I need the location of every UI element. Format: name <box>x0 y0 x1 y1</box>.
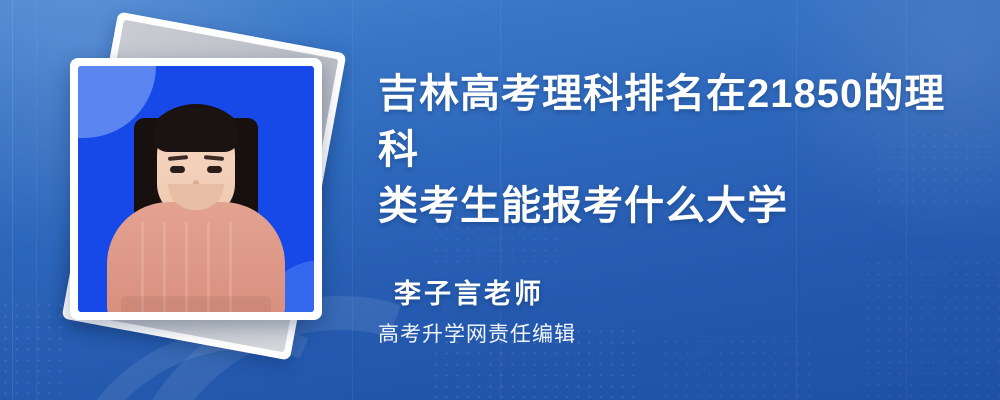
text-block: 吉林高考理科排名在21850的理科 类考生能报考什么大学 李子言老师 高考升学网… <box>378 0 978 400</box>
author-name: 李子言老师 <box>394 272 544 311</box>
decorative-dot-grid <box>0 300 66 396</box>
page-title-line-1: 吉林高考理科排名在21850的理科 <box>378 66 958 178</box>
author-photo <box>78 66 314 312</box>
eye-left <box>170 166 185 173</box>
eye-right <box>207 166 222 173</box>
person-illustration <box>78 66 314 312</box>
dress-waist <box>121 296 271 312</box>
page-title: 吉林高考理科排名在21850的理科 类考生能报考什么大学 <box>378 66 958 234</box>
banner-root: 吉林高考理科排名在21850的理科 类考生能报考什么大学 李子言老师 高考升学网… <box>0 0 1000 400</box>
author-role: 高考升学网责任编辑 <box>378 318 576 348</box>
hair-fringe <box>153 108 239 152</box>
torso-dress <box>107 202 285 312</box>
photo-card-front <box>70 58 322 320</box>
page-title-line-2: 类考生能报考什么大学 <box>378 178 958 234</box>
